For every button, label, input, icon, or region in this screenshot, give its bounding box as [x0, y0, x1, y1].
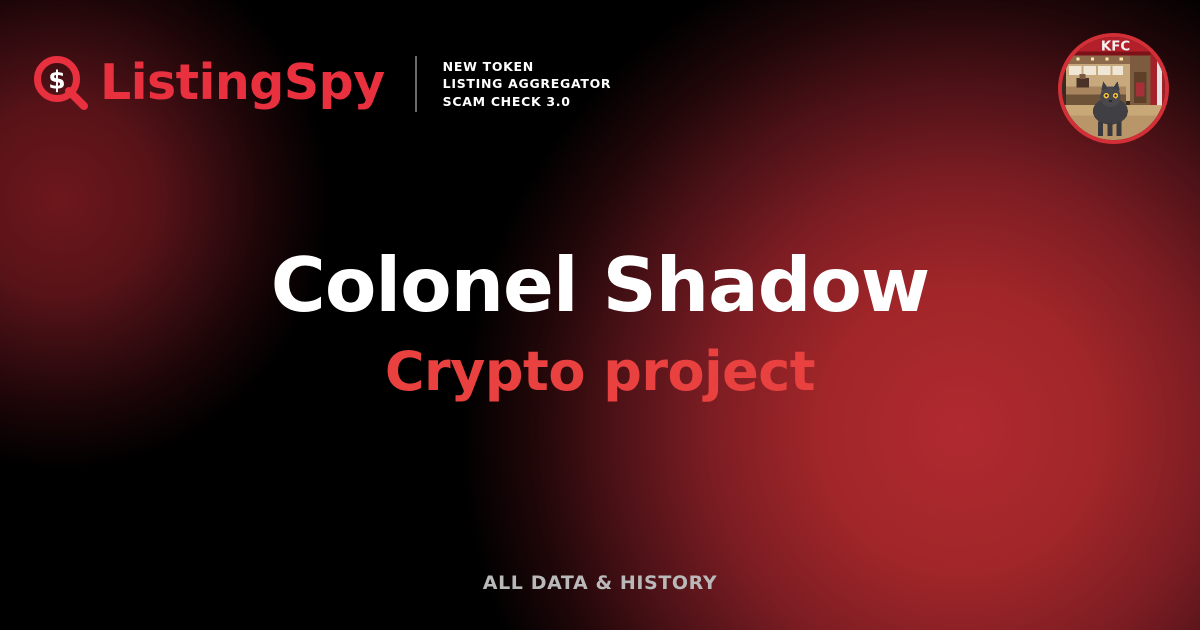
page-subtitle: Crypto project	[0, 342, 1200, 401]
page-title: Colonel Shadow	[0, 246, 1200, 326]
svg-text:KFC: KFC	[1101, 39, 1130, 54]
brand-wordmark: ListingSpy	[100, 58, 385, 111]
tagline-line-2: LISTING AGGREGATOR	[443, 76, 612, 91]
magnifier-dollar-icon: $	[34, 56, 90, 112]
svg-text:$: $	[48, 66, 65, 95]
brand-tagline: NEW TOKEN LISTING AGGREGATOR SCAM CHECK …	[443, 59, 612, 109]
footer-caption: ALL DATA & HISTORY	[0, 572, 1200, 594]
brand-header[interactable]: $ ListingSpy NEW TOKEN LISTING AGGREGATO…	[34, 56, 611, 112]
header-divider	[415, 56, 417, 112]
banner-canvas: $ ListingSpy NEW TOKEN LISTING AGGREGATO…	[0, 0, 1200, 630]
avatar[interactable]: KFC	[1058, 33, 1169, 144]
project-avatar-image: KFC	[1062, 37, 1165, 140]
hero-block: Colonel Shadow Crypto project	[0, 246, 1200, 401]
tagline-line-3: SCAM CHECK 3.0	[443, 94, 612, 109]
tagline-line-1: NEW TOKEN	[443, 59, 612, 74]
